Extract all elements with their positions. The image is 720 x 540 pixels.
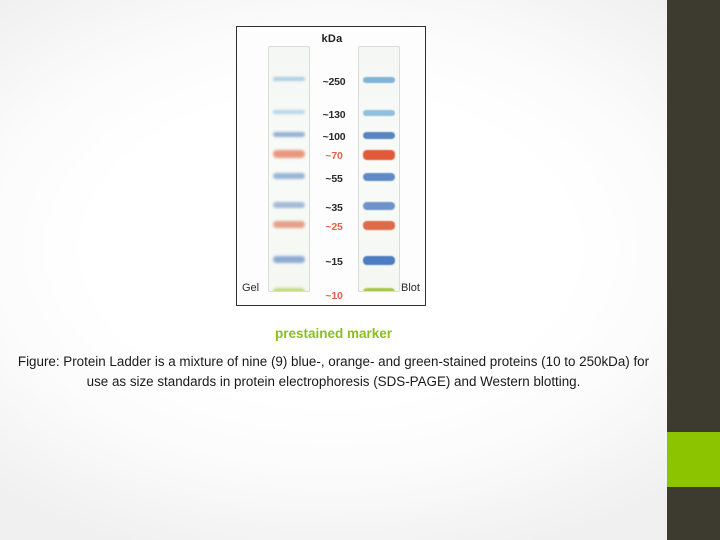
kda-marker-label-3: ~70 [313,150,355,162]
blot-lane [358,46,400,292]
kda-marker-label-2: ~100 [313,131,355,143]
ladder-band-green-8 [363,288,395,292]
ladder-band-orange-3 [363,150,395,160]
ladder-band-green-8 [273,288,305,292]
ladder-band-blue-4 [363,173,395,181]
ladder-band-blue-0 [363,77,395,83]
ladder-band-orange-3 [273,150,305,158]
ladder-band-blue-2 [273,132,305,137]
kda-marker-label-1: ~130 [313,109,355,121]
gel-lane-label: Gel [242,282,259,294]
kda-marker-label-5: ~35 [313,202,355,214]
sidebar-accent-block [667,432,720,487]
ladder-band-orange-6 [363,221,395,230]
ladder-band-orange-6 [273,221,305,228]
kda-marker-label-6: ~25 [313,221,355,233]
ladder-band-blue-4 [273,173,305,179]
ladder-band-blue-1 [363,110,395,116]
ladder-band-blue-7 [273,256,305,263]
kda-marker-label-7: ~15 [313,256,355,268]
ladder-band-blue-7 [363,256,395,265]
ladder-band-blue-5 [363,202,395,210]
kda-marker-label-8: ~10 [313,290,355,302]
ladder-band-blue-2 [363,132,395,139]
figure-caption-text: Figure: Protein Ladder is a mixture of n… [8,352,659,391]
ladder-band-blue-5 [273,202,305,208]
figure-inner: kDa Gel Blot ~250~130~100~70~55~35~25~15… [237,27,425,305]
ladder-band-blue-1 [273,110,305,114]
kda-marker-label-4: ~55 [313,173,355,185]
slide-canvas: kDa Gel Blot ~250~130~100~70~55~35~25~15… [0,0,720,540]
ladder-band-blue-0 [273,77,305,81]
prestained-marker-caption: prestained marker [0,326,667,341]
protein-ladder-figure: kDa Gel Blot ~250~130~100~70~55~35~25~15… [236,26,426,306]
kda-marker-label-0: ~250 [313,76,355,88]
blot-lane-label: Blot [401,282,420,294]
gel-lane [268,46,310,292]
kda-header-label: kDa [237,33,427,45]
